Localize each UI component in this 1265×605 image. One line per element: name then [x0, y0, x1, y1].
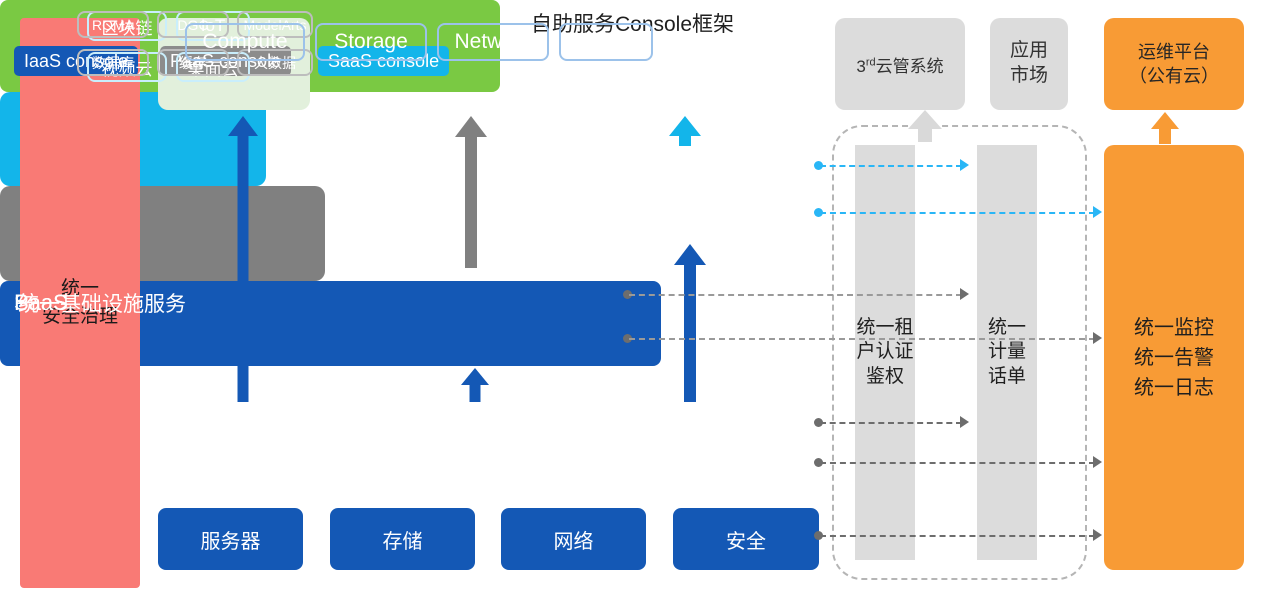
- unified-metering-line-3: 话单: [988, 365, 1026, 389]
- block-third-party-cloud-management-system: 3rd云管系统: [835, 18, 965, 110]
- unified-tenant-auth-line-2: 户认证: [856, 340, 913, 364]
- unified-tenant-auth-line-1: 统一租: [856, 316, 913, 340]
- dash-arrowhead-infra-to-auth: [960, 416, 969, 428]
- arrow-infra-to-paas: [460, 368, 490, 402]
- arrow-saas-to-console: [669, 116, 701, 146]
- ops-platform-top-text: 运维平台 （公有云）: [1129, 40, 1219, 89]
- ops-panel-line-1: 统一监控: [1134, 313, 1214, 343]
- unified-tenant-auth-text: 统一租 户认证 鉴权: [856, 316, 913, 389]
- dash-infra-to-auth: [820, 422, 962, 424]
- dash-arrowhead-saas-to-ops-panel: [1093, 206, 1102, 218]
- dash-arrowhead-saas-to-auth: [960, 159, 969, 171]
- block-unified-monitoring-alarm-log: 统一监控 统一告警 统一日志: [1104, 145, 1244, 570]
- block-unified-tenant-auth: 统一租 户认证 鉴权: [855, 145, 915, 560]
- chip-infra-cce[interactable]: CCE: [559, 23, 653, 61]
- chip-paas-database[interactable]: 数据库: [77, 49, 149, 76]
- block-ops-platform-public-cloud: 运维平台 （公有云）: [1104, 18, 1244, 110]
- dash-arrowhead-resources-to-ops-panel: [1093, 529, 1102, 541]
- block-resource-server[interactable]: 服务器: [158, 508, 303, 570]
- unified-metering-text: 统一 计量 话单: [988, 316, 1026, 389]
- chip-infra-network[interactable]: Network: [437, 23, 549, 61]
- ops-panel-line-2: 统一告警: [1134, 343, 1214, 373]
- dash-infra-to-ops-panel: [820, 462, 1095, 464]
- app-market-line-2: 市场: [1010, 64, 1048, 89]
- unified-metering-line-1: 统一: [988, 316, 1026, 340]
- dash-saas-to-ops-panel: [820, 212, 1095, 214]
- dash-arrowhead-paas-to-auth: [960, 288, 969, 300]
- architecture-diagram: 统一 安全治理 API网关 自助服务Console框架 IaaS console…: [0, 0, 1265, 605]
- chip-paas-roma[interactable]: ROMA: [77, 11, 149, 38]
- block-app-market: 应用 市场: [990, 18, 1068, 110]
- arrow-infra-to-saas: [674, 244, 706, 402]
- ops-panel-text: 统一监控 统一告警 统一日志: [1134, 313, 1214, 403]
- block-unified-metering-billing: 统一 计量 话单: [977, 145, 1037, 560]
- infrastructure-label: 统一基础设施服务: [18, 288, 186, 318]
- unified-metering-line-2: 计量: [988, 340, 1026, 364]
- block-resource-network[interactable]: 网络: [501, 508, 646, 570]
- block-resource-storage[interactable]: 存储: [330, 508, 475, 570]
- app-market-line-1: 应用: [1010, 39, 1048, 64]
- arrow-shared-to-third-cloud: [908, 110, 942, 142]
- third-cloud-label: 3rd云管系统: [856, 52, 943, 77]
- chip-infra-storage[interactable]: Storage: [315, 23, 427, 61]
- ops-platform-top-line-1: 运维平台: [1129, 40, 1219, 64]
- unified-tenant-auth-line-3: 鉴权: [856, 365, 913, 389]
- dash-paas-to-auth: [629, 294, 962, 296]
- arrow-infra-to-api-gateway: [228, 116, 258, 402]
- block-resource-security[interactable]: 安全: [673, 508, 819, 570]
- dash-arrowhead-infra-to-ops-panel: [1093, 456, 1102, 468]
- arrow-ops-panel-to-ops-platform: [1151, 112, 1179, 144]
- app-market-text: 应用 市场: [1010, 39, 1048, 88]
- dash-paas-to-ops-panel: [629, 338, 1095, 340]
- ops-platform-top-line-2: （公有云）: [1129, 64, 1219, 88]
- dash-arrowhead-paas-to-ops-panel: [1093, 332, 1102, 344]
- third-cloud-superscript: rd: [866, 56, 876, 68]
- arrow-paas-to-console: [455, 116, 487, 268]
- ops-panel-line-3: 统一日志: [1134, 373, 1214, 403]
- dash-resources-to-ops-panel: [820, 535, 1095, 537]
- dash-saas-to-auth: [820, 165, 962, 167]
- chip-infra-compute[interactable]: Compute: [185, 23, 305, 61]
